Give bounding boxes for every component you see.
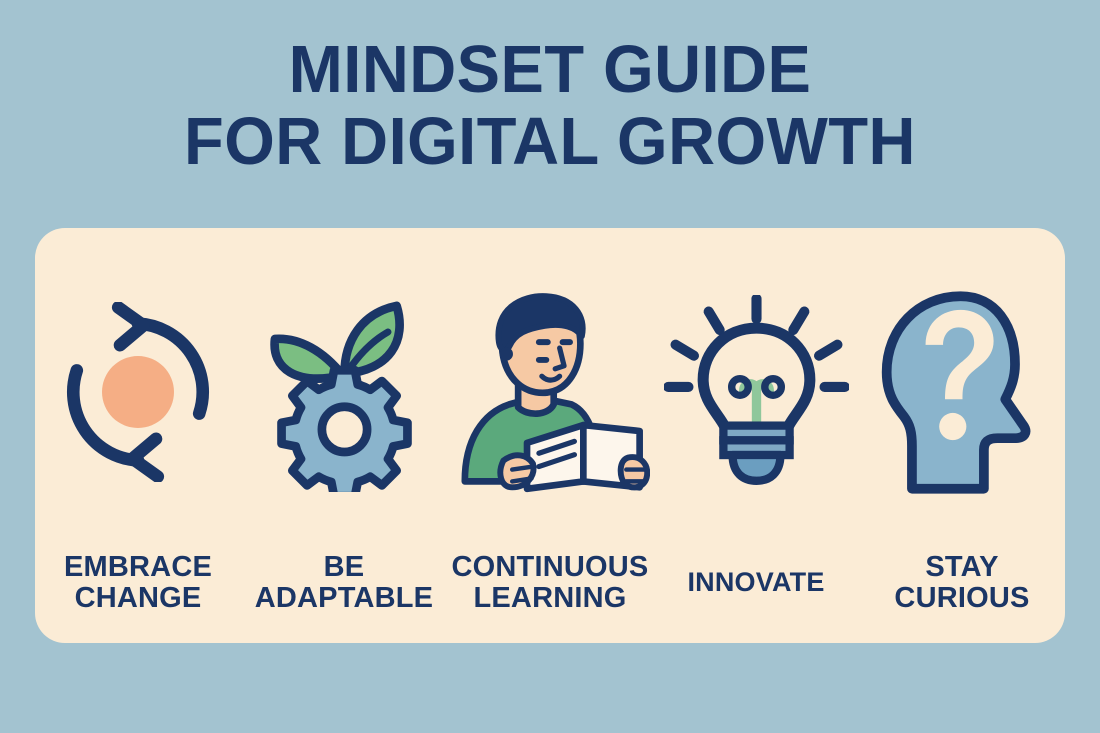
icon-cell-be-adaptable	[244, 252, 444, 532]
title-line-2: FOR DIGITAL GROWTH	[17, 110, 1084, 174]
label-be-adaptable-line2: ADAPTABLE	[244, 583, 444, 614]
label-stay-curious: STAY CURIOUS	[862, 552, 1062, 615]
label-innovate: INNOVATE	[656, 568, 856, 597]
label-innovate-line1: INNOVATE	[656, 568, 856, 597]
lightbulb-icon	[664, 295, 849, 490]
label-embrace-change: EMBRACE CHANGE	[38, 552, 238, 615]
icon-cell-stay-curious	[862, 252, 1062, 532]
sprout-gear-icon	[257, 292, 432, 492]
label-be-adaptable: BE ADAPTABLE	[244, 552, 444, 615]
label-continuous-learning-line2: LEARNING	[450, 583, 650, 614]
label-embrace-change-line2: CHANGE	[38, 583, 238, 614]
label-continuous-learning: CONTINUOUS LEARNING	[450, 552, 650, 615]
label-row: EMBRACE CHANGE BE ADAPTABLE CONTINUOUS L…	[35, 528, 1065, 638]
label-continuous-learning-line1: CONTINUOUS	[450, 552, 650, 583]
label-be-adaptable-line1: BE	[244, 552, 444, 583]
icon-row	[35, 242, 1065, 532]
content-card: EMBRACE CHANGE BE ADAPTABLE CONTINUOUS L…	[35, 228, 1065, 643]
page-title: MINDSET GUIDE FOR DIGITAL GROWTH	[0, 38, 1100, 175]
person-reading-book-icon	[450, 260, 650, 525]
label-embrace-change-line1: EMBRACE	[38, 552, 238, 583]
icon-cell-innovate	[656, 252, 856, 532]
cycle-arrows-icon	[48, 302, 228, 482]
label-stay-curious-line2: CURIOUS	[862, 583, 1062, 614]
label-stay-curious-line1: STAY	[862, 552, 1062, 583]
head-question-mark-icon	[875, 290, 1050, 495]
infographic-canvas: MINDSET GUIDE FOR DIGITAL GROWTH	[0, 0, 1100, 733]
icon-cell-continuous-learning	[450, 252, 650, 532]
icon-cell-embrace-change	[38, 252, 238, 532]
title-line-1: MINDSET GUIDE	[17, 38, 1084, 102]
